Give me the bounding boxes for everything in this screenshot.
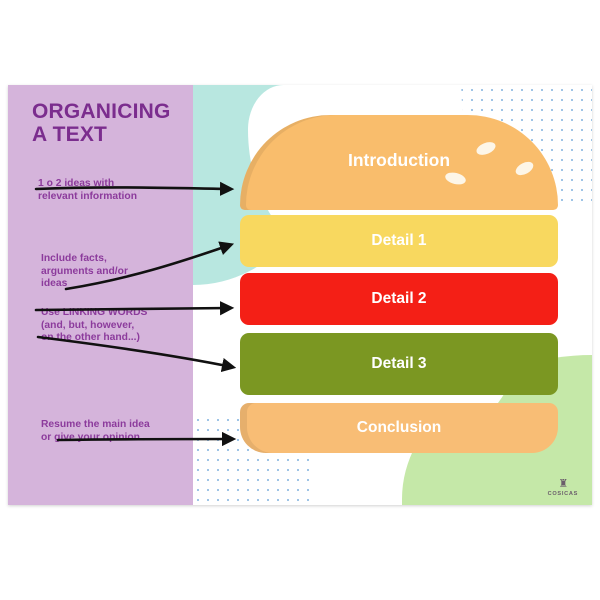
burger-layer-detail-1: Detail 1 [240,215,558,267]
note-intro: 1 o 2 ideas with relevant information [38,178,188,203]
burger-layer-detail-2: Detail 2 [240,273,558,325]
sesame-seed-icon [444,171,467,187]
page-title-line-2: A TEXT [32,124,192,147]
brand-logo: ♜ COSICAS [548,479,578,497]
burger-layer-label-introduction: Introduction [348,150,450,171]
logo-mark-icon: ♜ [548,479,578,490]
burger-layer-label-conclusion: Conclusion [357,419,441,437]
hamburger-diagram: Introduction Detail 1 Detail 2 Detail 3 … [240,85,560,505]
note-detail2: Use LINKING WORDS (and, but, however, on… [41,307,201,345]
sesame-seed-icon [514,159,536,178]
note-conclusion: Resume the main idea or give your opinio… [41,419,191,444]
burger-layer-label-detail-1: Detail 1 [371,232,426,250]
burger-layer-label-detail-3: Detail 3 [371,355,426,373]
screenshot-canvas: ORGANICING A TEXT 1 o 2 ideas with relev… [0,0,600,600]
slide: ORGANICING A TEXT 1 o 2 ideas with relev… [8,85,592,505]
page-title-line-1: ORGANICING [32,101,192,124]
burger-layer-detail-3: Detail 3 [240,333,558,395]
page-title: ORGANICING A TEXT [32,101,192,146]
sesame-seed-icon [475,140,498,158]
logo-text: COSICAS [548,491,578,497]
burger-layer-label-detail-2: Detail 2 [371,290,426,308]
burger-layer-bun-bottom: Conclusion [240,403,558,453]
note-detail1: Include facts, arguments and/or ideas [41,253,191,291]
burger-layer-bun-top: Introduction [240,115,558,210]
